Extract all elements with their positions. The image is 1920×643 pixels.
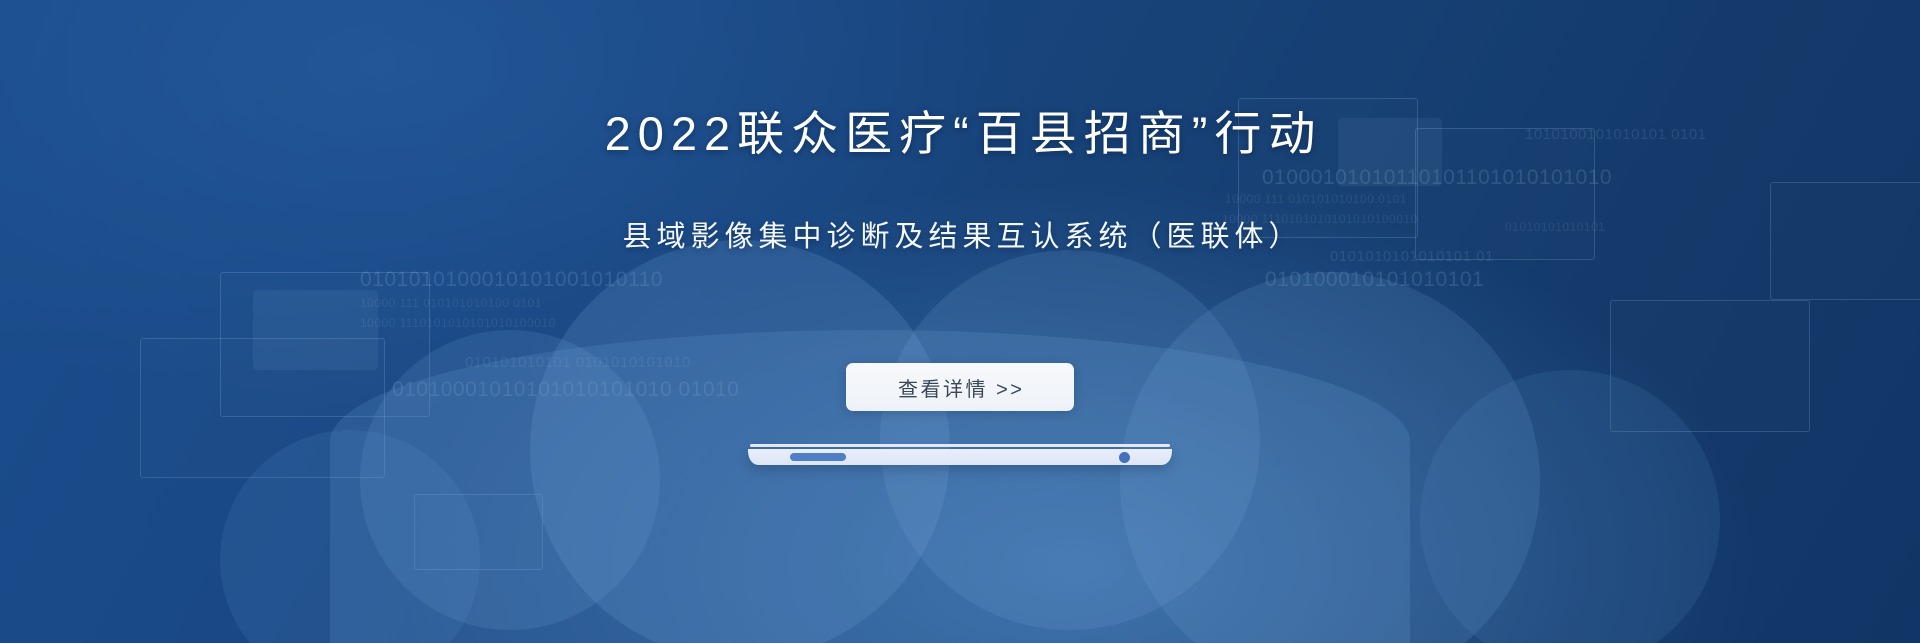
view-details-button[interactable]: 查看详情 >>	[846, 363, 1074, 411]
cta-container: 查看详情 >>	[0, 363, 1920, 411]
banner-subtitle: 县域影像集中诊断及结果互认系统（医联体）	[0, 220, 1920, 255]
banner-title: 2022联众医疗“百县招商”行动	[0, 108, 1920, 160]
trackpad-indicator-icon	[790, 453, 846, 461]
promo-banner: 0101010100010101001010110 10000 111 0101…	[0, 0, 1920, 643]
device-screen-edge	[750, 444, 1170, 447]
camera-dot-icon	[1119, 452, 1130, 463]
banner-content: 2022联众医疗“百县招商”行动 县域影像集中诊断及结果互认系统（医联体） 查看…	[0, 0, 1920, 643]
device-illustration	[748, 444, 1172, 468]
